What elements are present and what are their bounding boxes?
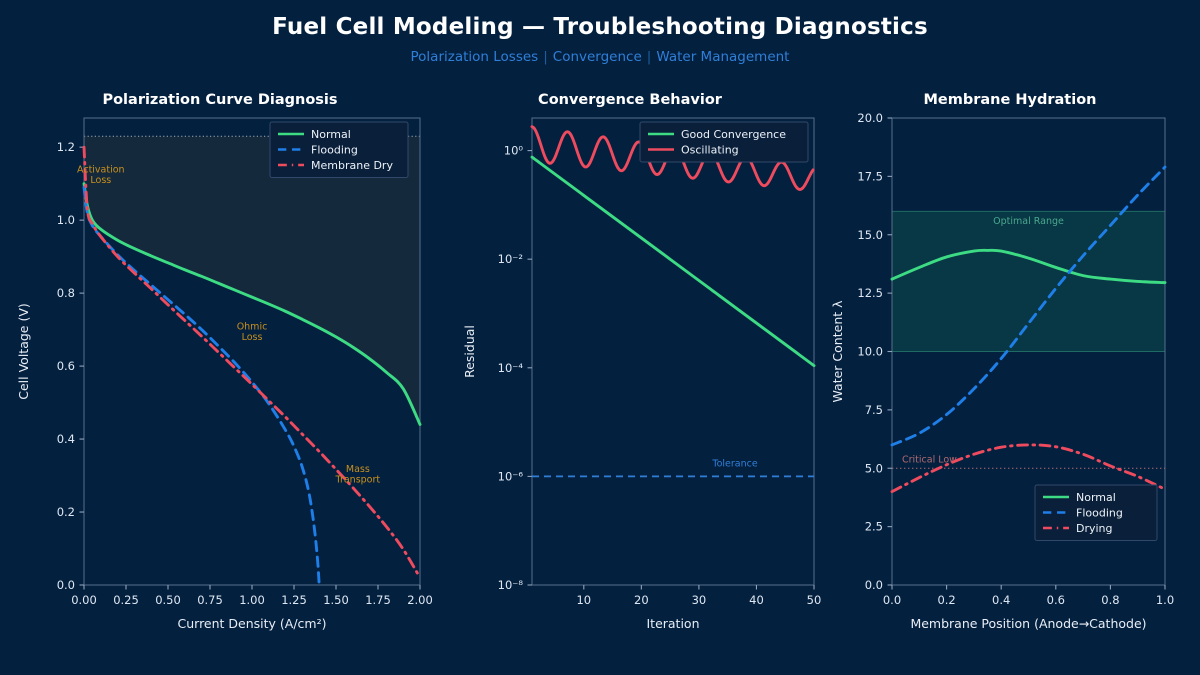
svg-text:Optimal Range: Optimal Range [993,216,1064,227]
svg-text:0.4: 0.4 [57,432,75,446]
svg-text:0.0: 0.0 [865,578,883,592]
svg-text:0.25: 0.25 [113,593,139,607]
svg-text:Water Content λ: Water Content λ [830,300,845,403]
svg-text:1.0: 1.0 [1156,593,1174,607]
panel-convergence: Convergence Behavior 102030405010⁰10⁻²10… [440,88,820,663]
svg-text:0.0: 0.0 [57,578,75,592]
svg-text:0.75: 0.75 [197,593,223,607]
svg-text:10.0: 10.0 [857,345,883,359]
chart-convergence: 102030405010⁰10⁻²10⁻⁴10⁻⁶10⁻⁸IterationRe… [440,88,820,663]
svg-text:Loss: Loss [90,175,111,186]
svg-text:1.0: 1.0 [57,213,75,227]
svg-text:10⁻⁴: 10⁻⁴ [498,361,524,375]
svg-text:Membrane Dry: Membrane Dry [311,159,393,172]
svg-text:1.00: 1.00 [239,593,265,607]
chart-polarization-curve: 0.000.250.500.751.001.251.501.752.000.00… [0,88,440,663]
svg-text:0.6: 0.6 [1047,593,1065,607]
svg-text:7.5: 7.5 [865,403,883,417]
panel-polarization-curve: Polarization Curve Diagnosis 0.000.250.5… [0,88,440,663]
svg-text:0.2: 0.2 [937,593,955,607]
svg-text:20: 20 [634,593,649,607]
svg-text:0.4: 0.4 [992,593,1010,607]
svg-text:Normal: Normal [1076,491,1116,504]
svg-text:0.00: 0.00 [71,593,97,607]
svg-text:Cell Voltage (V): Cell Voltage (V) [16,303,31,400]
svg-text:Ohmic: Ohmic [237,322,268,333]
svg-text:Flooding: Flooding [311,144,358,157]
svg-text:Loss: Loss [242,332,263,343]
svg-text:1.25: 1.25 [281,593,307,607]
svg-text:Iteration: Iteration [646,616,699,631]
svg-text:0.6: 0.6 [57,359,75,373]
chart-membrane-hydration: Optimal Range0.00.20.40.60.81.00.02.55.0… [820,88,1200,663]
svg-text:Good Convergence: Good Convergence [681,128,786,141]
svg-text:10⁰: 10⁰ [504,144,524,158]
svg-text:0.50: 0.50 [155,593,181,607]
svg-text:10: 10 [576,593,591,607]
svg-text:Drying: Drying [1076,522,1113,535]
svg-text:Flooding: Flooding [1076,507,1123,520]
svg-text:1.75: 1.75 [365,593,391,607]
page-title: Fuel Cell Modeling — Troubleshooting Dia… [0,14,1200,40]
svg-text:Oscillating: Oscillating [681,144,739,157]
svg-text:Current Density (A/cm²): Current Density (A/cm²) [178,616,327,631]
svg-text:0.8: 0.8 [1101,593,1119,607]
svg-text:17.5: 17.5 [857,169,883,183]
svg-text:5.0: 5.0 [865,461,883,475]
svg-text:10⁻⁸: 10⁻⁸ [498,578,524,592]
svg-text:1.50: 1.50 [323,593,349,607]
svg-text:Residual: Residual [462,325,477,378]
svg-text:2.00: 2.00 [407,593,433,607]
svg-text:15.0: 15.0 [857,228,883,242]
subtitle-part-3: Water Management [656,49,789,65]
subtitle-part-1: Polarization Losses [411,49,539,65]
subtitle-separator-1: | [538,49,553,65]
svg-text:20.0: 20.0 [857,111,883,125]
svg-text:Mass: Mass [346,464,370,475]
panel-membrane-hydration: Membrane Hydration Optimal Range0.00.20.… [820,88,1200,663]
svg-text:0.0: 0.0 [883,593,901,607]
svg-text:Normal: Normal [311,128,351,141]
svg-text:12.5: 12.5 [857,286,883,300]
svg-text:10⁻⁶: 10⁻⁶ [498,469,524,483]
svg-text:Critical Low: Critical Low [902,454,957,465]
svg-text:10⁻²: 10⁻² [498,252,523,266]
svg-text:Transport: Transport [335,474,381,485]
svg-text:2.5: 2.5 [865,520,883,534]
dashboard: Fuel Cell Modeling — Troubleshooting Dia… [0,0,1200,675]
svg-text:1.2: 1.2 [57,140,75,154]
svg-text:40: 40 [749,593,764,607]
svg-text:Activation: Activation [77,165,125,176]
subtitle-separator-2: | [642,49,657,65]
page-subtitle: Polarization Losses|Convergence|Water Ma… [0,49,1200,65]
svg-text:Tolerance: Tolerance [711,458,757,469]
svg-text:30: 30 [692,593,707,607]
svg-text:0.8: 0.8 [57,286,75,300]
svg-text:Membrane Position (Anode→Catho: Membrane Position (Anode→Cathode) [910,616,1146,631]
svg-text:0.2: 0.2 [57,505,75,519]
subtitle-part-2: Convergence [553,49,642,65]
